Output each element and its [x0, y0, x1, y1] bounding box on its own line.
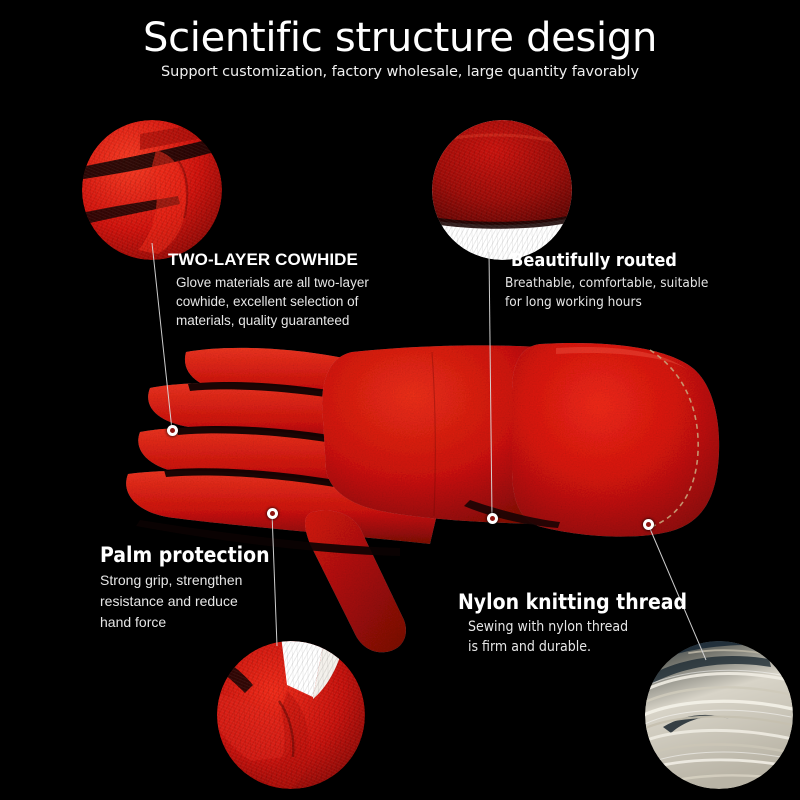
- infographic-canvas: Scientific structure design Support cust…: [0, 0, 800, 800]
- callout-routed-body: Breathable, comfortable, suitable for lo…: [505, 274, 708, 312]
- callout-palm-title: Palm protection: [100, 543, 270, 567]
- callout-nylon-body: Sewing with nylon thread is firm and dur…: [468, 617, 687, 657]
- callout-routed: Beautifully routed Breathable, comfortab…: [505, 250, 708, 312]
- callout-palm-body-line-3: hand force: [100, 614, 166, 630]
- callout-palm: Palm protection Strong grip, strengthen …: [100, 543, 270, 633]
- callout-nylon-body-line-1: Sewing with nylon thread: [468, 619, 628, 635]
- callout-palm-body: Strong grip, strengthen resistance and r…: [100, 570, 270, 633]
- callout-cowhide: TWO-LAYER COWHIDE Glove materials are al…: [168, 250, 369, 330]
- callout-cowhide-body: Glove materials are all two-layer cowhid…: [176, 273, 369, 330]
- callout-nylon-body-line-2: is firm and durable.: [468, 639, 591, 655]
- cowhide-closeup-image: [82, 120, 222, 260]
- callout-cowhide-body-line-3: materials, quality guaranteed: [176, 313, 349, 328]
- glove-cuff: [512, 343, 719, 537]
- detail-circle-cowhide[interactable]: [82, 120, 222, 260]
- callout-routed-body-line-2: for long working hours: [505, 294, 642, 310]
- callout-nylon-title: Nylon knitting thread: [458, 590, 687, 614]
- palm-closeup-image: [217, 641, 365, 789]
- hotspot-nylon[interactable]: [643, 519, 654, 530]
- callout-cowhide-body-line-1: Glove materials are all two-layer: [176, 275, 369, 290]
- nylon-thread-closeup-image: [645, 641, 793, 789]
- callout-cowhide-body-line-2: cowhide, excellent selection of: [176, 294, 358, 309]
- detail-circle-nylon[interactable]: [645, 641, 793, 789]
- callout-routed-title: Beautifully routed: [511, 250, 708, 271]
- callout-palm-body-line-1: Strong grip, strengthen: [100, 572, 242, 588]
- callout-nylon: Nylon knitting thread Sewing with nylon …: [458, 590, 687, 657]
- detail-circle-palm[interactable]: [217, 641, 365, 789]
- detail-circle-routed[interactable]: [432, 120, 572, 260]
- hotspot-routed[interactable]: [487, 513, 498, 524]
- callout-cowhide-title: TWO-LAYER COWHIDE: [168, 250, 369, 270]
- callout-palm-body-line-2: resistance and reduce: [100, 593, 238, 609]
- routed-closeup-image: [432, 120, 572, 260]
- callout-routed-body-line-1: Breathable, comfortable, suitable: [505, 275, 708, 291]
- hotspot-cowhide[interactable]: [167, 425, 178, 436]
- hotspot-palm[interactable]: [267, 508, 278, 519]
